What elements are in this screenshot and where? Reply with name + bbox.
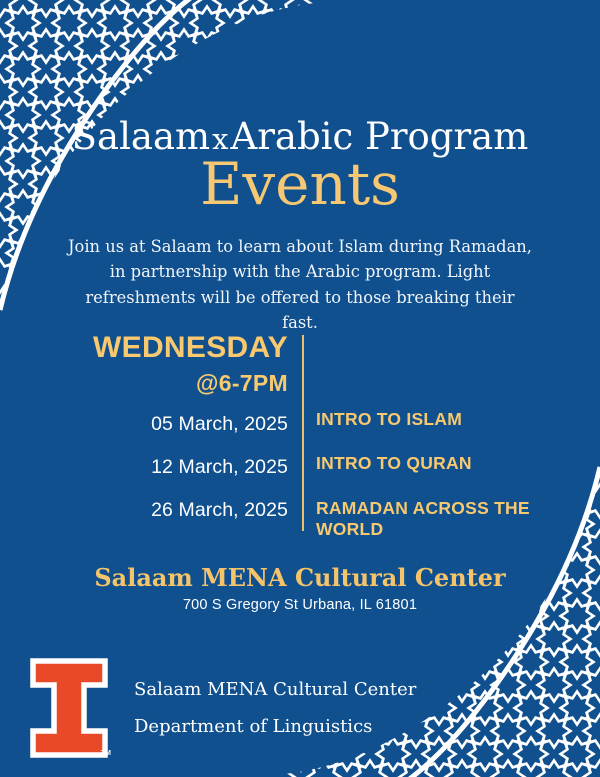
poster-title-line-2: Events: [0, 153, 600, 216]
title-word-salaam: Salaam: [72, 115, 210, 158]
poster-title-block: SalaamxArabic Program Events: [0, 118, 600, 216]
venue-address: 700 S Gregory St Urbana, IL 61801: [0, 597, 600, 613]
venue-name: Salaam MENA Cultural Center: [0, 564, 600, 592]
schedule-section: WEDNESDAY @6-7PM 05 March, 2025 12 March…: [0, 332, 600, 537]
schedule-event-title: INTRO TO QURAN: [316, 453, 574, 474]
schedule-events-column: INTRO TO ISLAM INTRO TO QURAN RAMADAN AC…: [316, 409, 574, 540]
schedule-date: 12 March, 2025: [40, 456, 288, 479]
schedule-date: 26 March, 2025: [40, 499, 288, 522]
footer-block: TM Salaam MENA Cultural Center Departmen…: [30, 658, 416, 758]
footer-text-block: Salaam MENA Cultural Center Department o…: [134, 681, 416, 736]
schedule-day-label: WEDNESDAY: [40, 332, 288, 364]
schedule-dates-column: WEDNESDAY @6-7PM 05 March, 2025 12 March…: [40, 332, 288, 522]
footer-department-name: Department of Linguistics: [134, 718, 416, 736]
event-poster: SalaamxArabic Program Events Join us at …: [0, 0, 600, 777]
schedule-event-title: RAMADAN ACROSS THE WORLD: [316, 498, 574, 541]
footer-org-name: Salaam MENA Cultural Center: [134, 681, 416, 699]
trademark-symbol: TM: [101, 750, 111, 757]
schedule-vertical-divider: [302, 335, 304, 531]
schedule-date: 05 March, 2025: [40, 413, 288, 436]
schedule-event-title: INTRO TO ISLAM: [316, 409, 574, 430]
schedule-time-label: @6-7PM: [40, 371, 288, 396]
poster-description: Join us at Salaam to learn about Islam d…: [68, 234, 532, 336]
illinois-block-i-logo: TM: [30, 658, 108, 758]
venue-block: Salaam MENA Cultural Center 700 S Gregor…: [0, 564, 600, 613]
block-i-icon: [30, 658, 108, 758]
